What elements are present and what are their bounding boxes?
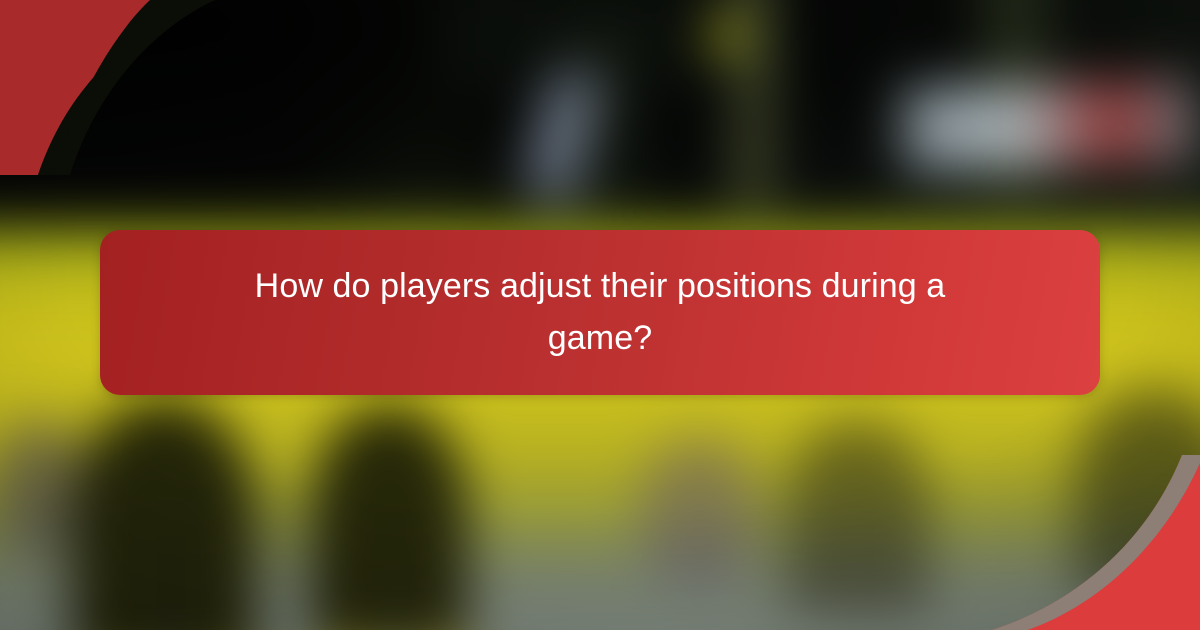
question-text: How do players adjust their positions du… [176,261,1024,364]
question-card: How do players adjust their positions du… [100,230,1100,395]
social-card-canvas: How do players adjust their positions du… [0,0,1200,630]
